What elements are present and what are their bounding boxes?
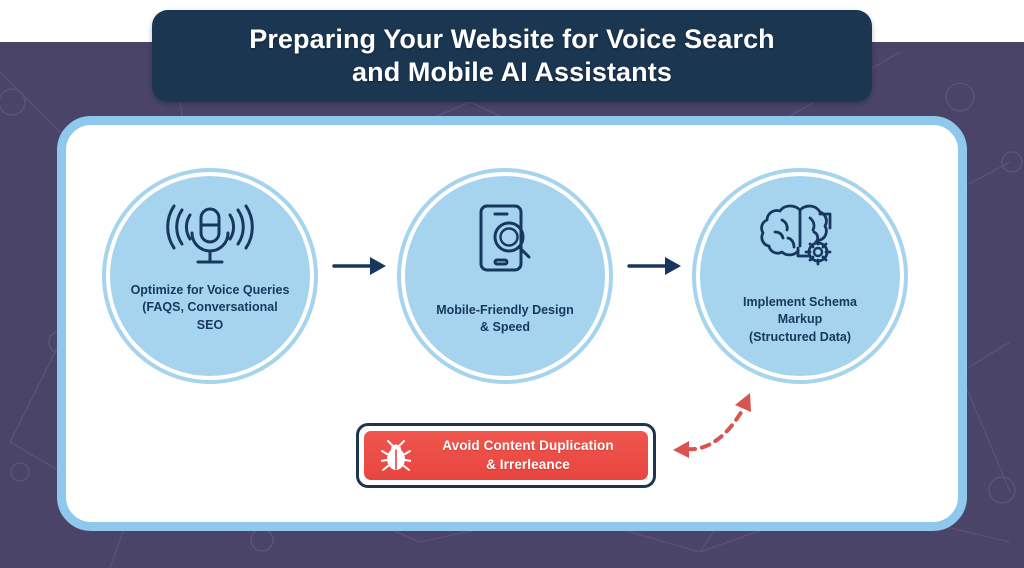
step-node-1-label: Optimize for Voice Queries (FAQS, Conver… xyxy=(121,282,300,334)
curved-dashed-double-arrow-icon xyxy=(665,385,775,475)
mobile-phone-magnifier-icon xyxy=(469,202,541,274)
step-node-2-label: Mobile-Friendly Design & Speed xyxy=(426,302,584,337)
step-1-line-3: SEO xyxy=(197,318,223,332)
step-3-line-3: (Structured Data) xyxy=(749,330,851,344)
step-2-line-2: & Speed xyxy=(480,320,530,334)
alert-line-2: & Irrerleance xyxy=(486,457,570,472)
title-banner: Preparing Your Website for Voice Search … xyxy=(152,10,872,102)
arrow-right-icon-1 xyxy=(332,252,388,285)
step-node-1[interactable]: Optimize for Voice Queries (FAQS, Conver… xyxy=(106,172,314,380)
alert-line-1: Avoid Content Duplication xyxy=(442,438,614,453)
alert-text: Avoid Content Duplication & Irrerleance xyxy=(416,437,648,473)
title-line-2: and Mobile AI Assistants xyxy=(352,57,672,87)
step-3-line-1: Implement Schema xyxy=(743,295,857,309)
alert-inner: Avoid Content Duplication & Irrerleance xyxy=(364,431,648,480)
title-line-1: Preparing Your Website for Voice Search xyxy=(249,24,775,54)
step-node-2[interactable]: Mobile-Friendly Design & Speed xyxy=(401,172,609,380)
step-3-line-2: Markup xyxy=(778,312,822,326)
bug-icon xyxy=(376,440,416,472)
step-node-3-label: Implement Schema Markup (Structured Data… xyxy=(733,294,867,346)
brain-gear-icon xyxy=(758,202,842,274)
infographic-canvas: Preparing Your Website for Voice Search … xyxy=(0,0,1024,568)
microphone-voice-waves-icon xyxy=(164,202,256,274)
alert-banner[interactable]: Avoid Content Duplication & Irrerleance xyxy=(356,423,656,488)
page-title: Preparing Your Website for Voice Search … xyxy=(225,23,799,89)
step-node-3[interactable]: Implement Schema Markup (Structured Data… xyxy=(696,172,904,380)
step-1-line-1: Optimize for Voice Queries xyxy=(131,283,290,297)
step-1-line-2: (FAQS, Conversational xyxy=(142,300,277,314)
arrow-right-icon-2 xyxy=(627,252,683,285)
step-2-line-1: Mobile-Friendly Design xyxy=(436,303,574,317)
